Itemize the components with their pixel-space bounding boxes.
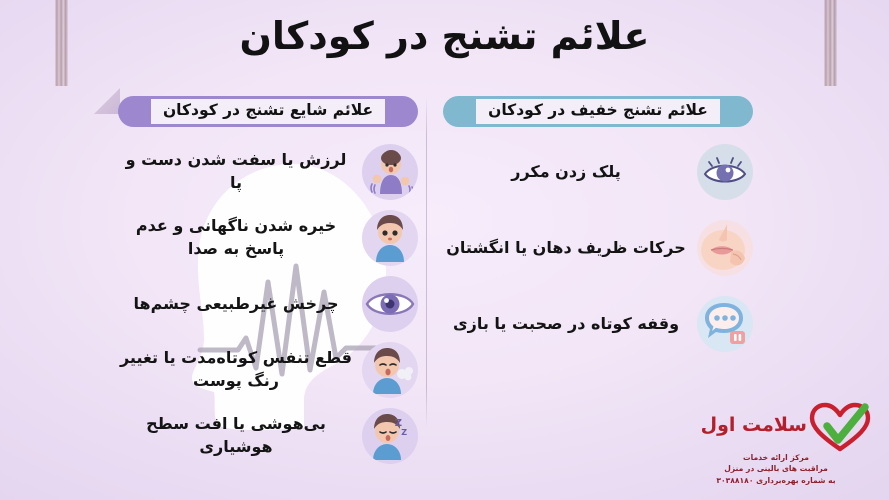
logo-top-row: سلامت اول — [681, 402, 871, 452]
list-item-label: وقفه کوتاه در صحبت یا بازی — [443, 313, 689, 336]
heart-with-checkmark-icon — [809, 402, 871, 452]
column-mild-symptoms: علائم تشنج خفیف در کودکان پلک زدن مکرر — [443, 96, 753, 371]
list-item: پلک زدن مکرر — [443, 143, 753, 201]
section-header-mild: علائم تشنج خفیف در کودکان — [443, 96, 753, 127]
svg-text:Z: Z — [401, 428, 407, 437]
list-item: Z Z بی‌هوشی یا افت سطح هوشیاری — [118, 407, 418, 465]
mild-symptom-list: پلک زدن مکرر حرکات ظریف دهان یا انگشتان — [443, 143, 753, 353]
lips-finger-icon — [697, 220, 753, 276]
list-item-label: چرخش غیرطبیعی چشم‌ها — [118, 293, 354, 316]
list-item-label: لرزش یا سفت شدن دست و پا — [118, 149, 354, 194]
logo-tagline-line-2: مراقبت های بالینی در منزل — [681, 463, 871, 474]
section-header-common: علائم شایع تشنج در کودکان — [118, 96, 418, 127]
list-item-label: بی‌هوشی یا افت سطح هوشیاری — [118, 413, 354, 458]
child-staring-blank-icon — [362, 210, 418, 266]
page-title: علائم تشنج در کودکان — [0, 14, 889, 60]
list-item-label: قطع تنفس کوتاه‌مدت یا تغییر رنگ پوست — [118, 347, 354, 392]
list-item: وقفه کوتاه در صحبت یا بازی — [443, 295, 753, 353]
list-item: قطع تنفس کوتاه‌مدت یا تغییر رنگ پوست — [118, 341, 418, 399]
list-item: لرزش یا سفت شدن دست و پا — [118, 143, 418, 201]
child-sleeping-unconscious-icon: Z Z — [362, 408, 418, 464]
logo-name: سلامت اول — [701, 416, 807, 439]
list-item: چرخش غیرطبیعی چشم‌ها — [118, 275, 418, 333]
column-divider — [426, 96, 427, 428]
list-item: خیره شدن ناگهانی و عدم پاسخ به صدا — [118, 209, 418, 267]
child-trembling-arms-icon — [362, 144, 418, 200]
decor-corner-accent — [94, 88, 120, 114]
list-item-label: خیره شدن ناگهانی و عدم پاسخ به صدا — [118, 215, 354, 260]
common-symptom-list: لرزش یا سفت شدن دست و پا خیره شدن ناگهان… — [118, 143, 418, 465]
logo-tagline-line-3: به شماره بهره‌برداری ۳۰۳۸۸۱۸۰ — [681, 475, 871, 486]
speech-bubble-pause-icon — [697, 296, 753, 352]
child-breath-holding-icon — [362, 342, 418, 398]
logo-tagline: مرکز ارائه خدمات مراقبت های بالینی در من… — [681, 452, 871, 486]
blinking-eye-icon — [697, 144, 753, 200]
eye-rolling-icon — [362, 276, 418, 332]
list-item-label: پلک زدن مکرر — [443, 161, 689, 184]
section-header-mild-label: علائم تشنج خفیف در کودکان — [476, 99, 720, 124]
brand-logo: سلامت اول مرکز ارائه خدمات مراقبت های با… — [681, 402, 871, 494]
list-item-label: حرکات ظریف دهان یا انگشتان — [443, 237, 689, 260]
infographic-canvas: علائم تشنج در کودکان علائم شایع تشنج در … — [0, 0, 889, 500]
section-header-common-label: علائم شایع تشنج در کودکان — [151, 99, 385, 124]
list-item: حرکات ظریف دهان یا انگشتان — [443, 219, 753, 277]
logo-tagline-line-1: مرکز ارائه خدمات — [681, 452, 871, 463]
column-common-symptoms: علائم شایع تشنج در کودکان — [118, 96, 418, 473]
